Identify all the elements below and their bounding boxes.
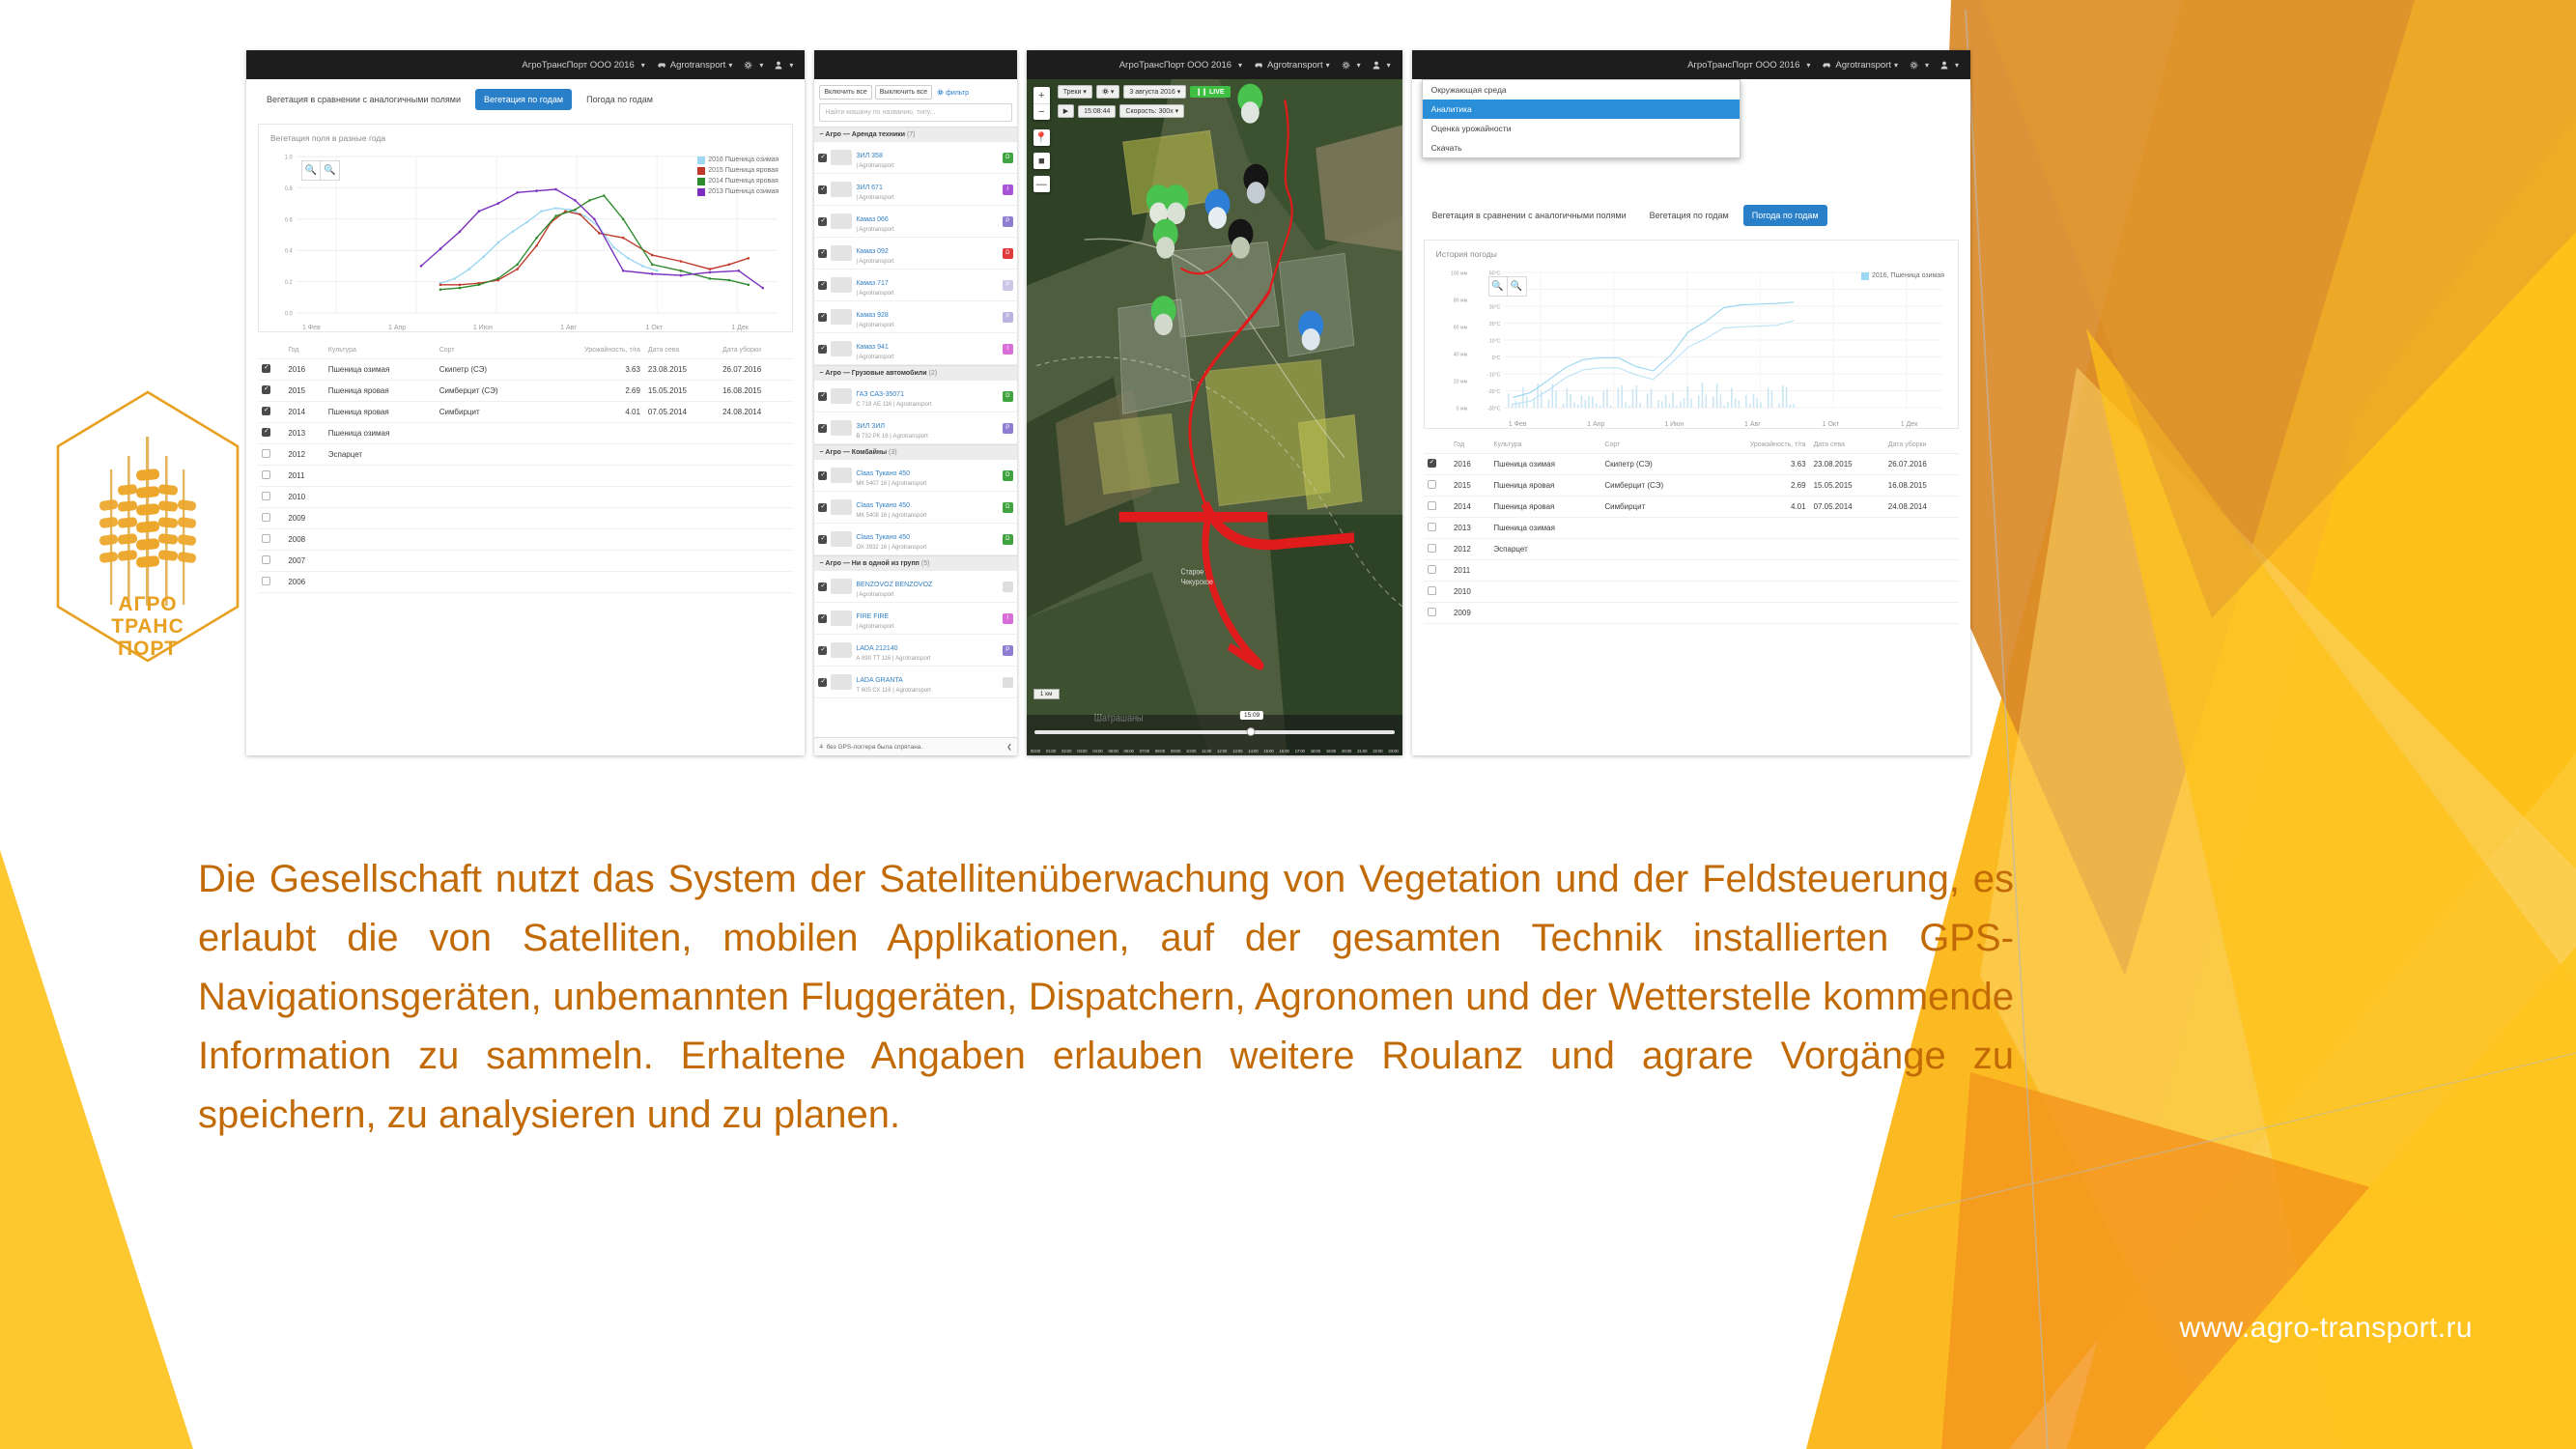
svg-text:-30°C: -30°C <box>1487 406 1501 412</box>
cell-variety: Симберцит (СЭ) <box>1600 475 1707 497</box>
chevron-left-icon[interactable]: ❮ <box>1006 743 1011 751</box>
list-item[interactable]: FIRE FIRE| AgrotransportI <box>814 603 1016 635</box>
playback-speed[interactable]: Скорость: 300х ▾ <box>1119 104 1184 118</box>
table-header-cell: Год <box>284 342 324 359</box>
vehicle-group-header[interactable]: − Агро — Ни в одной из групп (5) <box>814 555 1016 571</box>
tracks-dropdown[interactable]: Треки ▾ <box>1058 85 1092 99</box>
map-timeline[interactable]: 15:09 00:0001:0002:0003:0004:0005:0006:0… <box>1027 715 1402 755</box>
map-canvas[interactable]: Шатрашаны Старое Чекурское <box>1027 79 1402 755</box>
vehicle-status-badge[interactable]: P <box>1003 312 1013 323</box>
settings-menu-4[interactable] <box>1910 61 1929 70</box>
cell-variety: Симберцит (СЭ) <box>436 381 542 402</box>
vehicle-status-badge[interactable]: D <box>1003 470 1013 481</box>
panel4-table-header: ГодКультураСортУрожайность, т/гаДата сев… <box>1424 437 1959 454</box>
panel4-crop-table: ГодКультураСортУрожайность, т/гаДата сев… <box>1424 437 1959 624</box>
legend-item[interactable]: 2016 Пшеница озимая <box>697 155 778 165</box>
table-row[interactable]: 2015Пшеница яроваяСимберцит (СЭ)2.6915.0… <box>1424 475 1959 497</box>
cell-year: 2008 <box>284 529 324 551</box>
vehicle-name[interactable]: ЗИЛ ЗИЛ <box>856 423 885 430</box>
vehicle-checkbox[interactable] <box>818 313 827 322</box>
row-checkbox[interactable] <box>1424 539 1450 560</box>
table-row[interactable]: 2007 <box>258 551 793 572</box>
svg-text:-10°C: -10°C <box>1487 372 1501 378</box>
cell-harvest-date <box>719 466 793 487</box>
menu-item[interactable]: Окружающая среда <box>1423 80 1740 99</box>
vehicle-status-badge[interactable] <box>1003 677 1013 688</box>
product-label-4: Agrotransport <box>1835 60 1898 71</box>
chart-zoom-controls[interactable]: 🔍 🔍 <box>301 160 340 181</box>
map-pin-icon: 📍 <box>1033 129 1050 146</box>
vehicle-checkbox[interactable] <box>818 281 827 290</box>
legend-label: 2016, Пшеница озимая <box>1872 270 1944 281</box>
table-row[interactable]: 2014Пшеница яроваяСимбирцит4.0107.05.201… <box>1424 497 1959 518</box>
timeline-track[interactable] <box>1034 730 1395 734</box>
row-checkbox[interactable] <box>258 444 284 466</box>
timeline-tick: 12:00 <box>1217 749 1227 753</box>
cell-crop <box>325 466 436 487</box>
svg-text:0.0: 0.0 <box>285 311 294 317</box>
vehicle-name[interactable]: Камаз 941 <box>856 344 888 351</box>
cell-variety: Симбирцит <box>436 402 542 423</box>
vehicle-group-count: (2) <box>929 370 938 377</box>
vehicle-checkbox[interactable] <box>818 471 827 480</box>
timeline-tick: 05:00 <box>1108 749 1118 753</box>
zoom-in-button[interactable]: + <box>1033 87 1050 103</box>
vehicle-search-input[interactable]: Найти машину по названию, типу... <box>819 103 1011 122</box>
vehicle-name[interactable]: Камаз 717 <box>856 280 888 287</box>
legend-item[interactable]: 2013 Пшеница озимая <box>697 186 778 197</box>
x-tick-label: 1 Авг <box>1713 421 1792 428</box>
gear-icon <box>1342 61 1350 70</box>
screenshot-vegetation-by-years: АгроТрансПорт ООО 2016 Agrotransport <box>246 50 805 755</box>
table-row[interactable]: 2011 <box>258 466 793 487</box>
cell-variety <box>1600 518 1707 539</box>
company-selector-4[interactable]: АгроТрансПорт ООО 2016 <box>1687 60 1810 71</box>
row-checkbox[interactable] <box>258 572 284 593</box>
zoom-in-icon[interactable]: 🔍 <box>1489 277 1508 296</box>
panel1-chart-card: Вегетация поля в разные года 🔍 🔍 2016 Пш… <box>258 124 793 332</box>
vehicle-group-header[interactable]: − Агро — Аренда техники (7) <box>814 127 1016 142</box>
cell-yield <box>542 423 644 444</box>
timeline-tick: 07:00 <box>1140 749 1149 753</box>
cell-crop <box>325 529 436 551</box>
panel4-table-body: 2016Пшеница озимаяСкипетр (СЭ)3.6323.08.… <box>1424 454 1959 624</box>
menu-item[interactable]: Оценка урожайности <box>1423 119 1740 138</box>
settings-menu[interactable] <box>744 61 763 70</box>
vehicle-checkbox[interactable] <box>818 345 827 354</box>
table-row[interactable]: 2012Эспарцет <box>1424 539 1959 560</box>
cell-crop <box>325 487 436 508</box>
timeline-tooltip: 15:09 <box>1240 711 1263 720</box>
legend-swatch <box>697 167 705 175</box>
vehicle-name[interactable]: Claas Тукано 450 <box>856 470 910 477</box>
cell-crop <box>1489 560 1600 582</box>
cell-harvest-date <box>719 551 793 572</box>
user-menu[interactable] <box>775 61 793 70</box>
map-toolbar-playback: ▶ 15:08:44 Скорость: 300х ▾ <box>1058 104 1184 118</box>
timeline-tick: 18:00 <box>1311 749 1320 753</box>
vehicle-checkbox[interactable] <box>818 646 827 655</box>
vehicle-name[interactable]: Claas Тукано 450 <box>856 534 910 541</box>
vehicle-checkbox[interactable] <box>818 678 827 687</box>
cell-variety <box>436 529 542 551</box>
vehicle-name[interactable]: Камаз 092 <box>856 248 888 255</box>
vehicle-sub: | Agrotransport <box>856 623 998 631</box>
vehicle-status-badge[interactable]: I <box>1003 613 1013 624</box>
truck-icon <box>831 309 852 325</box>
list-item[interactable]: Камаз 941| AgrotransportI <box>814 333 1016 365</box>
deco-shape-c <box>2067 116 2576 1449</box>
panel4-tabbar: Вегетация в сравнении с аналогичными пол… <box>1412 195 1970 234</box>
menu-item[interactable]: Скачать <box>1423 138 1740 157</box>
cell-yield <box>542 572 644 593</box>
vehicle-status-badge[interactable] <box>1003 582 1013 592</box>
user-icon <box>1373 61 1380 70</box>
map-layers-button[interactable]: ■ <box>1033 153 1050 169</box>
cell-variety: Скипетр (СЭ) <box>436 359 542 381</box>
car-icon <box>1822 61 1831 69</box>
timeline-tick: 21:00 <box>1357 749 1367 753</box>
x-tick-label: 1 Июн <box>1635 421 1713 428</box>
vehicle-status-badge[interactable]: D <box>1003 502 1013 513</box>
row-checkbox[interactable] <box>258 529 284 551</box>
cell-sow-date <box>644 572 719 593</box>
cell-sow-date: 23.08.2015 <box>1810 454 1884 475</box>
list-item[interactable]: Claas Тукано 450ОХ 3932 16 | Agrotranspo… <box>814 524 1016 555</box>
vehicle-name[interactable]: Claas Тукано 450 <box>856 502 910 509</box>
vehicle-status-badge[interactable]: D <box>1003 534 1013 545</box>
legend-item[interactable]: 2015 Пшеница яровая <box>697 165 778 176</box>
legend-label: 2014 Пшеница яровая <box>708 176 778 186</box>
cell-sow-date <box>1810 518 1884 539</box>
x-tick-label: 1 Дек <box>697 325 783 331</box>
hidden-vehicles-note: 4 без GPS-логгера была спрятана. <box>819 744 922 751</box>
row-checkbox[interactable] <box>258 381 284 402</box>
table-row[interactable]: 2016Пшеница озимаяСкипетр (СЭ)3.6323.08.… <box>258 359 793 381</box>
table-header-cell: Урожайность, т/га <box>542 342 644 359</box>
date-picker[interactable]: 3 августа 2016 ▾ <box>1123 85 1186 99</box>
cell-year: 2007 <box>284 551 324 572</box>
vehicle-sub: | Agrotransport <box>856 226 998 234</box>
vehicle-name[interactable]: Камаз 066 <box>856 216 888 223</box>
zoom-in-icon[interactable]: 🔍 <box>302 161 321 180</box>
tab-weather-by-years[interactable]: Погода по годам <box>578 89 662 110</box>
list-item[interactable]: LADA GRANTAТ 605 СХ 116 | Agrotransport <box>814 667 1016 698</box>
vehicle-status-badge[interactable]: P <box>1003 645 1013 656</box>
vehicle-sub: | Agrotransport <box>856 354 998 361</box>
vehicle-status-badge[interactable]: D <box>1003 391 1013 402</box>
svg-text:Старое: Старое <box>1180 567 1203 577</box>
weather-zoom-controls[interactable]: 🔍 🔍 <box>1488 276 1527 297</box>
legend-swatch <box>1861 272 1869 280</box>
table-header-cell: Дата уборки <box>1884 437 1959 454</box>
zoom-out-icon[interactable]: 🔍 <box>321 161 339 180</box>
row-checkbox[interactable] <box>1424 560 1450 582</box>
screenshot-weather-by-years: АгроТрансПорт ООО 2016 Agrotransport <box>1412 50 1970 755</box>
list-item[interactable]: Камаз 092| AgrotransportD <box>814 238 1016 270</box>
row-checkbox[interactable] <box>258 487 284 508</box>
analytics-dropdown-menu[interactable]: Окружающая средаАналитикаОценка урожайно… <box>1422 79 1741 158</box>
vehicle-sub: С 718 АЕ 116 | Agrotransport <box>856 401 998 409</box>
ruler-icon: — <box>1033 176 1050 192</box>
table-row[interactable]: 2009 <box>258 508 793 529</box>
deco-shape-g <box>1980 0 2576 618</box>
vehicle-name[interactable]: LADA GRANTA <box>856 677 903 684</box>
timeline-tick: 20:00 <box>1342 749 1351 753</box>
filter-label: фильтр <box>946 90 969 97</box>
table-row[interactable]: 2008 <box>258 529 793 551</box>
cell-yield <box>1708 560 1810 582</box>
list-item[interactable]: ЗИЛ ЗИЛВ 732 РК 16 | AgrotransportP <box>814 412 1016 444</box>
vehicle-status-badge[interactable]: D <box>1003 153 1013 163</box>
svg-text:-20°C: -20°C <box>1487 389 1501 395</box>
x-tick-label: 1 Фев <box>269 325 354 331</box>
vehicle-checkbox[interactable] <box>818 503 827 512</box>
legend-swatch <box>697 178 705 185</box>
table-header-cell: Культура <box>325 342 436 359</box>
screenshot-map-tracking: АгроТрансПорт ООО 2016 Agrotransport <box>1027 50 1402 755</box>
zoom-out-icon[interactable]: 🔍 <box>1508 277 1526 296</box>
table-header-cell: Дата сева <box>644 342 719 359</box>
vehicle-sub: МК 5408 16 | Agrotransport <box>856 512 998 520</box>
cell-variety <box>436 508 542 529</box>
row-checkbox[interactable] <box>1424 454 1450 475</box>
truck-icon <box>831 388 852 404</box>
cell-variety <box>1600 560 1707 582</box>
product-label: Agrotransport <box>670 60 733 71</box>
tab-weather-by-years-4[interactable]: Погода по годам <box>1743 205 1827 226</box>
cell-crop: Пшеница яровая <box>325 402 436 423</box>
timeline-handle[interactable] <box>1246 727 1255 736</box>
tracks-label: Треки <box>1063 89 1082 96</box>
settings-menu-3[interactable] <box>1342 61 1361 70</box>
truck-icon <box>831 420 852 436</box>
tab-vegetation-compare[interactable]: Вегетация в сравнении с аналогичными пол… <box>258 89 469 110</box>
disable-all-button[interactable]: Выключить все <box>875 85 932 99</box>
panel1-card-title: Вегетация поля в разные года <box>259 125 792 147</box>
cell-crop <box>1489 582 1600 603</box>
timeline-tick: 03:00 <box>1077 749 1087 753</box>
timeline-tick: 06:00 <box>1124 749 1134 753</box>
vehicle-name[interactable]: BENZOVOZ BENZOVOZ <box>856 582 932 588</box>
row-checkbox[interactable] <box>1424 603 1450 624</box>
cell-year: 2006 <box>284 572 324 593</box>
table-row[interactable]: 2012Эспарцет <box>258 444 793 466</box>
row-checkbox[interactable] <box>1424 497 1450 518</box>
vehicle-name[interactable]: Камаз 928 <box>856 312 888 319</box>
vehicle-checkbox[interactable] <box>818 154 827 162</box>
vehicle-status-badge[interactable]: P <box>1003 216 1013 227</box>
map-pin-button[interactable]: 📍 <box>1033 129 1050 146</box>
vehicle-group-header[interactable]: − Агро — Комбайны (3) <box>814 444 1016 460</box>
vehicle-status-badge[interactable]: I <box>1003 185 1013 195</box>
svg-text:0.6: 0.6 <box>285 217 293 223</box>
cell-sow-date <box>1810 603 1884 624</box>
map-ruler-button[interactable]: — <box>1033 176 1050 192</box>
row-checkbox[interactable] <box>1424 518 1450 539</box>
cell-yield <box>542 487 644 508</box>
svg-text:100 мм: 100 мм <box>1451 270 1468 276</box>
row-checkbox[interactable] <box>258 359 284 381</box>
list-item[interactable]: ЗИЛ 358| AgrotransportD <box>814 142 1016 174</box>
table-row[interactable]: 2010 <box>258 487 793 508</box>
vehicle-status-badge[interactable]: P <box>1003 423 1013 434</box>
cell-sow-date <box>644 423 719 444</box>
cell-variety <box>436 423 542 444</box>
list-item[interactable]: BENZOVOZ BENZOVOZ| Agrotransport <box>814 571 1016 603</box>
table-row[interactable]: 2013Пшеница озимая <box>258 423 793 444</box>
list-item[interactable]: Камаз 717| AgrotransportP <box>814 270 1016 301</box>
row-checkbox[interactable] <box>258 551 284 572</box>
table-row[interactable]: 2011 <box>1424 560 1959 582</box>
user-menu-3[interactable] <box>1373 61 1391 70</box>
row-checkbox[interactable] <box>258 466 284 487</box>
menu-item[interactable]: Аналитика <box>1423 99 1740 119</box>
vehicle-status-badge[interactable]: D <box>1003 248 1013 259</box>
user-icon <box>1940 61 1948 70</box>
company-selector[interactable]: АгроТрансПорт ООО 2016 <box>522 60 644 71</box>
vehicle-list[interactable]: − Агро — Аренда техники (7)ЗИЛ 358| Agro… <box>814 127 1016 737</box>
row-checkbox[interactable] <box>258 423 284 444</box>
cell-yield <box>542 529 644 551</box>
vehicle-checkbox[interactable] <box>818 614 827 623</box>
legend-item[interactable]: 2016, Пшеница озимая <box>1861 270 1944 281</box>
cell-variety <box>436 572 542 593</box>
product-selector-4[interactable]: Agrotransport <box>1822 60 1898 71</box>
table-row[interactable]: 2013Пшеница озимая <box>1424 518 1959 539</box>
company-selector-3[interactable]: АгроТрансПорт ООО 2016 <box>1119 60 1242 71</box>
cell-sow-date: 15.05.2015 <box>644 381 719 402</box>
cell-crop: Пшеница яровая <box>325 381 436 402</box>
table-row[interactable]: 2014Пшеница яроваяСимбирцит4.0107.05.201… <box>258 402 793 423</box>
timeline-tick: 23:00 <box>1388 749 1398 753</box>
cell-year: 2010 <box>284 487 324 508</box>
product-selector[interactable]: Agrotransport <box>657 60 733 71</box>
cell-harvest-date: 16.08.2015 <box>1884 475 1959 497</box>
cell-sow-date <box>644 466 719 487</box>
vehicle-name[interactable]: ЗИЛ 671 <box>856 185 882 191</box>
vehicle-checkbox[interactable] <box>818 185 827 194</box>
table-row[interactable]: 2010 <box>1424 582 1959 603</box>
vehicle-checkbox[interactable] <box>818 582 827 591</box>
row-checkbox[interactable] <box>1424 582 1450 603</box>
panel4-table-wrap: ГодКультураСортУрожайность, т/гаДата сев… <box>1424 437 1959 624</box>
cell-yield: 4.01 <box>1708 497 1810 518</box>
timeline-tick: 15:00 <box>1263 749 1273 753</box>
cell-sow-date: 15.05.2015 <box>1810 475 1884 497</box>
vehicle-group-header[interactable]: − Агро — Грузовые автомобили (2) <box>814 365 1016 381</box>
cell-harvest-date <box>1884 560 1959 582</box>
row-checkbox[interactable] <box>258 402 284 423</box>
cell-variety: Скипетр (СЭ) <box>1600 454 1707 475</box>
vehicle-status-badge[interactable]: I <box>1003 344 1013 355</box>
list-item[interactable]: Claas Тукано 450МК 5407 16 | Agrotranspo… <box>814 460 1016 492</box>
vehicle-checkbox[interactable] <box>818 249 827 258</box>
list-item[interactable]: ГАЗ САЗ-35071С 718 АЕ 116 | Agrotranspor… <box>814 381 1016 412</box>
cell-yield: 2.69 <box>1708 475 1810 497</box>
table-header-cell: Год <box>1450 437 1489 454</box>
timeline-tick: 14:00 <box>1248 749 1258 753</box>
vehicle-status-badge[interactable]: P <box>1003 280 1013 291</box>
tab-vegetation-compare-4[interactable]: Вегетация в сравнении с аналогичными пол… <box>1424 205 1635 226</box>
x-tick-label: 1 Окт <box>611 325 697 331</box>
vehicle-sub: МК 5407 16 | Agrotransport <box>856 480 998 488</box>
truck-icon <box>831 341 852 356</box>
list-item[interactable]: ЗИЛ 671| AgrotransportI <box>814 174 1016 206</box>
list-item[interactable]: LADA 212140А 890 ТТ 116 | AgrotransportP <box>814 635 1016 667</box>
cell-sow-date <box>644 508 719 529</box>
cell-variety <box>1600 539 1707 560</box>
cell-yield: 3.63 <box>542 359 644 381</box>
table-row[interactable]: 2016Пшеница озимаяСкипетр (СЭ)3.6323.08.… <box>1424 454 1959 475</box>
legend-item[interactable]: 2014 Пшеница яровая <box>697 176 778 186</box>
cell-yield <box>542 508 644 529</box>
filter-button[interactable]: фильтр <box>935 86 971 99</box>
play-button[interactable]: ▶ <box>1058 104 1074 118</box>
tab-vegetation-by-years[interactable]: Вегетация по годам <box>475 89 572 110</box>
zoom-out-button[interactable]: − <box>1033 103 1050 120</box>
vehicle-name[interactable]: LADA 212140 <box>856 645 897 652</box>
list-item[interactable]: Claas Тукано 450МК 5408 16 | Agrotranspo… <box>814 492 1016 524</box>
cell-crop: Пшеница озимая <box>1489 454 1600 475</box>
truck-icon <box>831 150 852 165</box>
vehicle-checkbox[interactable] <box>818 217 827 226</box>
product-selector-3[interactable]: Agrotransport <box>1254 60 1330 71</box>
vehicle-checkbox[interactable] <box>818 535 827 544</box>
cell-harvest-date <box>719 423 793 444</box>
map-zoom-controls[interactable]: + − <box>1033 87 1050 120</box>
gear-icon <box>1910 61 1918 70</box>
cell-crop <box>1489 603 1600 624</box>
list-item[interactable]: Камаз 066| AgrotransportP <box>814 206 1016 238</box>
row-checkbox[interactable] <box>258 508 284 529</box>
timeline-tick: 11:00 <box>1202 749 1211 753</box>
vehicle-checkbox[interactable] <box>818 424 827 433</box>
cell-year: 2009 <box>284 508 324 529</box>
tab-vegetation-by-years-4[interactable]: Вегетация по годам <box>1641 205 1738 226</box>
vehicle-name[interactable]: ЗИЛ 358 <box>856 153 882 159</box>
table-row[interactable]: 2015Пшеница яроваяСимберцит (СЭ)2.6915.0… <box>258 381 793 402</box>
row-checkbox[interactable] <box>1424 475 1450 497</box>
table-row[interactable]: 2009 <box>1424 603 1959 624</box>
weather-chart-legend: 2016, Пшеница озимая <box>1861 270 1944 281</box>
vehicle-name[interactable]: ГАЗ САЗ-35071 <box>856 391 904 398</box>
cell-yield: 2.69 <box>542 381 644 402</box>
app-header-bar-2 <box>814 50 1016 79</box>
logo-line-3: ПОРТ <box>118 638 178 660</box>
list-item[interactable]: Камаз 928| AgrotransportP <box>814 301 1016 333</box>
cell-crop: Эспарцет <box>1489 539 1600 560</box>
car-icon <box>657 61 666 69</box>
vehicle-name[interactable]: FIRE FIRE <box>856 613 889 620</box>
playback-time: 15:08:44 <box>1078 105 1116 118</box>
vehicle-sub: | Agrotransport <box>856 194 998 202</box>
date-label: 3 августа 2016 <box>1129 89 1175 96</box>
table-row[interactable]: 2006 <box>258 572 793 593</box>
gear-icon <box>937 89 944 96</box>
cell-yield <box>542 466 644 487</box>
enable-all-button[interactable]: Включить все <box>819 85 871 99</box>
panel1-tabbar: Вегетация в сравнении с аналогичными пол… <box>246 79 805 118</box>
vehicle-checkbox[interactable] <box>818 392 827 401</box>
x-tick-label: 1 Июн <box>439 325 525 331</box>
weather-chart-xaxis: 1 Фев1 Апр1 Июн1 Авг1 Окт1 Дек <box>1479 421 1948 428</box>
map-settings-dropdown[interactable]: ▾ <box>1096 85 1119 99</box>
user-menu-4[interactable] <box>1940 61 1959 70</box>
timeline-ticks: 00:0001:0002:0003:0004:0005:0006:0007:00… <box>1031 749 1399 753</box>
live-badge[interactable]: ❙❙ LIVE <box>1190 86 1230 98</box>
cell-harvest-date <box>719 508 793 529</box>
